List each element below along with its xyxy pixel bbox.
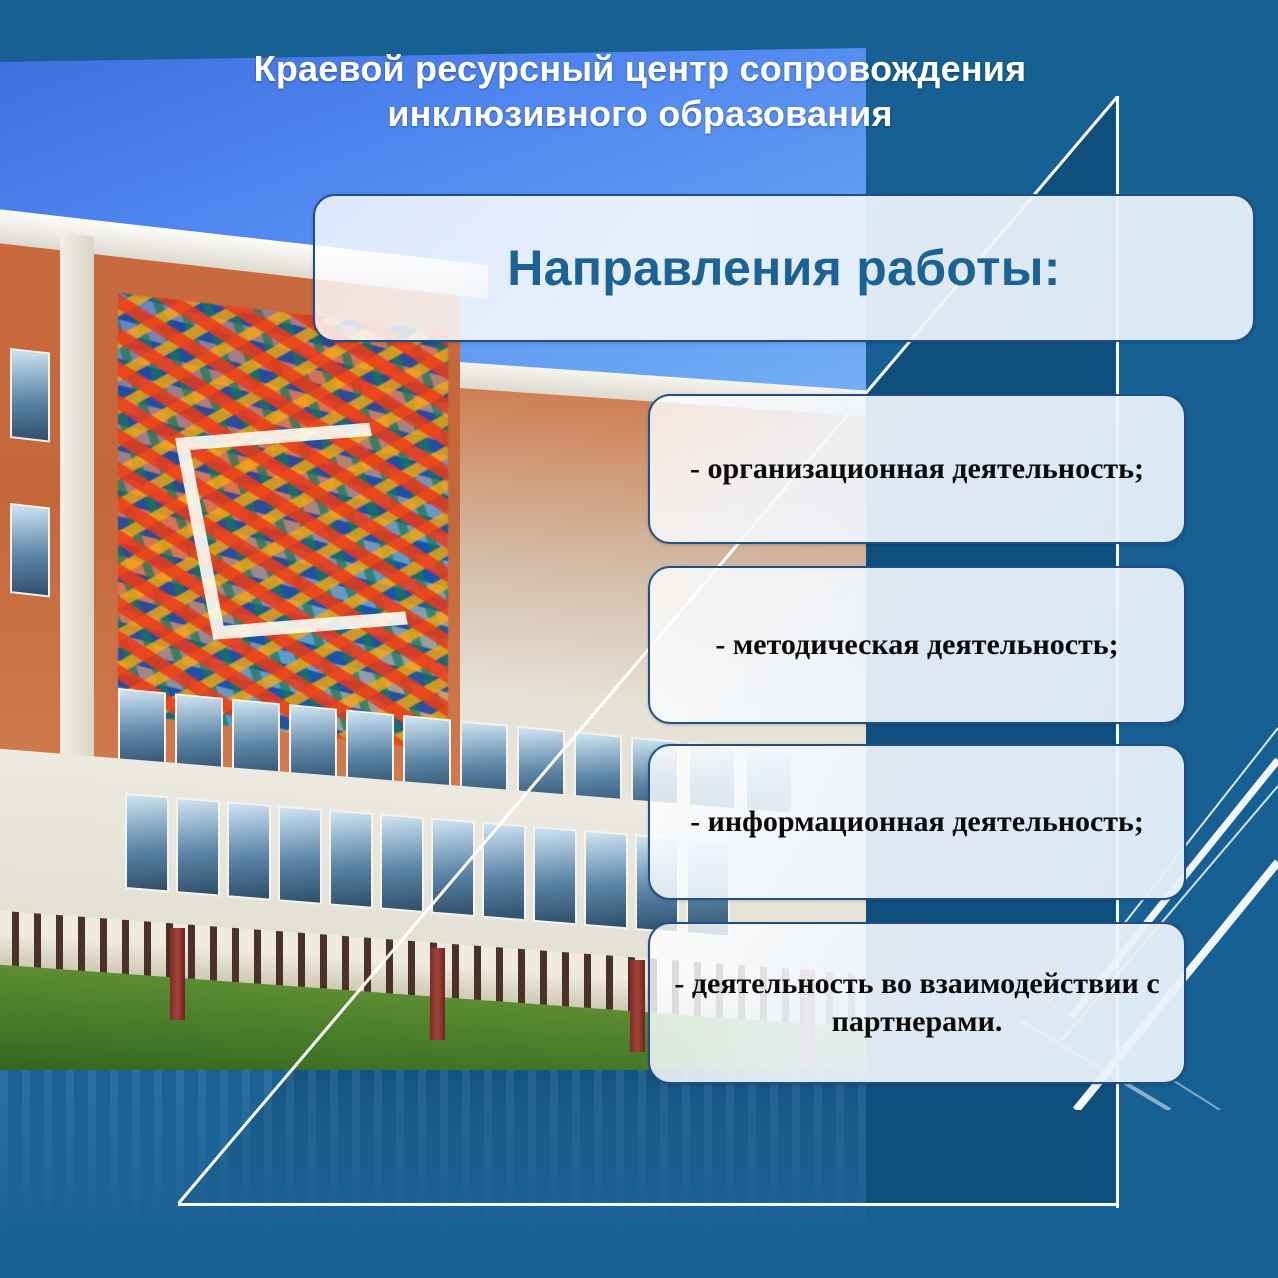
window [329,809,373,909]
direction-card-organizational[interactable]: - организационная деятельность; [648,394,1186,544]
fence-post [170,928,185,1020]
window [176,797,220,897]
heading-text: Направления работы: [507,239,1061,297]
direction-text: - методическая деятельность; [697,626,1136,664]
direction-card-methodical[interactable]: - методическая деятельность; [648,566,1186,724]
window [533,826,577,926]
mural-chevron-motif [175,423,408,640]
fence-post [430,948,445,1040]
heading-card: Направления работы: [313,194,1255,342]
window [380,814,424,914]
presentation-slide: Краевой ресурсный центр сопровождения ин… [0,0,1278,1278]
window [278,805,322,905]
window [227,801,271,901]
window [10,348,50,443]
fence-post [630,960,645,1052]
direction-text: - деятельность во взаимодействии с партн… [650,965,1184,1041]
photo-reflection-fade [0,1070,866,1242]
slide-title: Краевой ресурсный центр сопровождения ин… [120,46,1160,137]
direction-card-informational[interactable]: - информационная деятельность; [648,744,1186,900]
horizontal-accent-line [178,1203,1119,1206]
window [10,503,50,598]
direction-card-partners[interactable]: - деятельность во взаимодействии с партн… [648,922,1186,1084]
window [584,830,628,930]
window-row-upper-left [10,348,50,443]
direction-text: - информационная деятельность; [672,803,1162,841]
window [125,793,169,893]
window-row-upper-left-2 [10,503,50,598]
window [431,818,475,918]
window [482,822,526,922]
direction-text: - организационная деятельность; [672,450,1162,488]
